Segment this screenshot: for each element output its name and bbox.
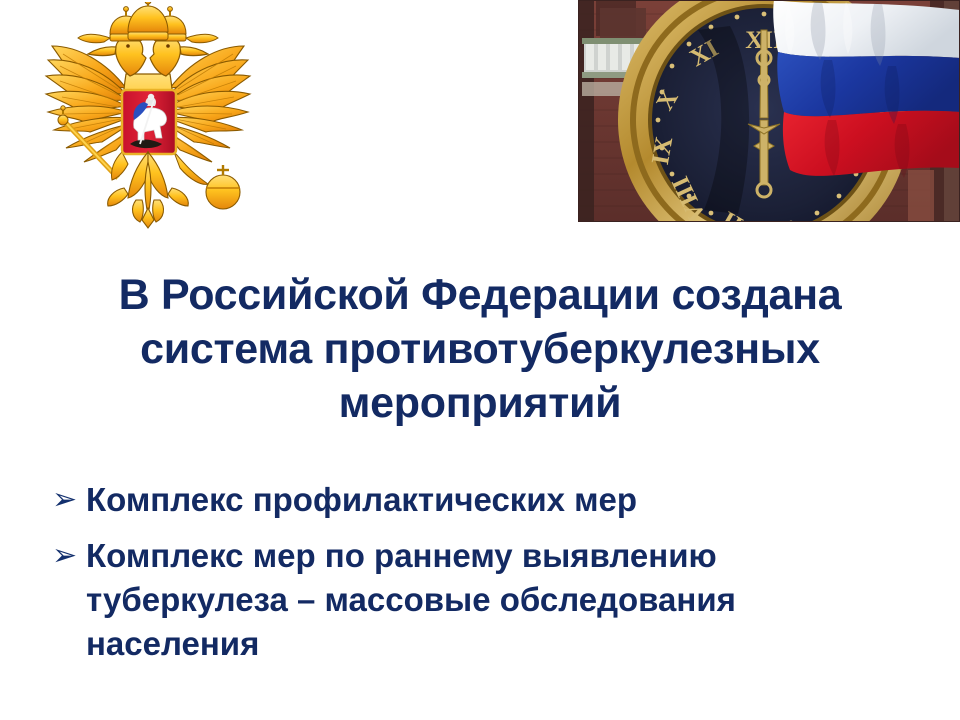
slide-title: В Российской Федерации создана система п…	[40, 268, 920, 430]
russian-flag	[773, 0, 960, 178]
russian-federation-coat-of-arms	[18, 2, 258, 230]
orb	[206, 165, 240, 209]
eagle-right-eye	[166, 44, 170, 48]
kremlin-clock-and-russian-flag: XII XI X IX VIII VII I II III	[578, 0, 960, 222]
list-item: ➢ Комплекс мер по раннему выявлению тубе…	[52, 534, 932, 666]
arrowhead-bullet-icon: ➢	[52, 534, 86, 578]
svg-text:IX: IX	[647, 135, 678, 167]
list-item: ➢ Комплекс профилактических мер	[52, 478, 932, 522]
bullet-line: туберкулеза – массовые обследования	[86, 578, 932, 622]
arrowhead-bullet-icon: ➢	[52, 478, 86, 522]
eagle-left-eye	[126, 44, 130, 48]
bullet-text: Комплекс профилактических мер	[86, 478, 932, 522]
crown-center	[128, 2, 168, 40]
title-line-1: В Российской Федерации создана	[40, 268, 920, 322]
bullet-line: Комплекс мер по раннему выявлению	[86, 534, 932, 578]
bullet-list: ➢ Комплекс профилактических мер ➢ Компле…	[52, 478, 932, 678]
title-line-3: мероприятий	[40, 376, 920, 430]
slide-root: XII XI X IX VIII VII I II III	[0, 0, 960, 720]
shield-saint-george	[122, 90, 176, 154]
bullet-text: Комплекс мер по раннему выявлению туберк…	[86, 534, 932, 666]
bullet-line: населения	[86, 622, 932, 666]
title-line-2: система противотуберкулезных	[40, 322, 920, 376]
bullet-line: Комплекс профилактических мер	[86, 478, 932, 522]
